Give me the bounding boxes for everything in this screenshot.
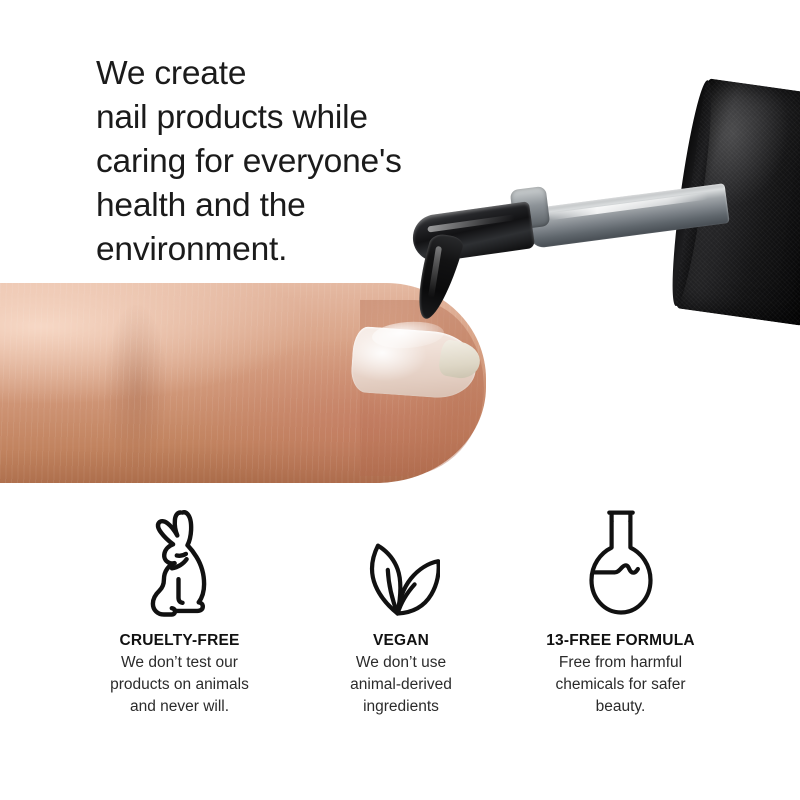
feature-description: Free from harmful chemicals for safer be… bbox=[519, 652, 722, 718]
feature-13-free-formula: 13-FREE FORMULA Free from harmful chemic… bbox=[513, 500, 728, 718]
flask-icon bbox=[519, 500, 722, 618]
headline: We create nail products while caring for… bbox=[96, 52, 516, 272]
feature-description: We don’t test our products on animals an… bbox=[78, 652, 281, 718]
feature-row: CRUELTY-FREE We don’t test our products … bbox=[0, 500, 800, 740]
feature-vegan: VEGAN We don’t use animal-derived ingred… bbox=[311, 500, 491, 718]
feature-title: VEGAN bbox=[317, 632, 485, 650]
leaves-icon bbox=[317, 500, 485, 618]
feature-description: We don’t use animal-derived ingredients bbox=[317, 652, 485, 718]
feature-title: 13-FREE FORMULA bbox=[519, 632, 722, 650]
feature-cruelty-free: CRUELTY-FREE We don’t test our products … bbox=[72, 500, 287, 718]
rabbit-icon bbox=[78, 500, 281, 618]
promo-page: We create nail products while caring for… bbox=[0, 0, 800, 800]
feature-title: CRUELTY-FREE bbox=[78, 632, 281, 650]
